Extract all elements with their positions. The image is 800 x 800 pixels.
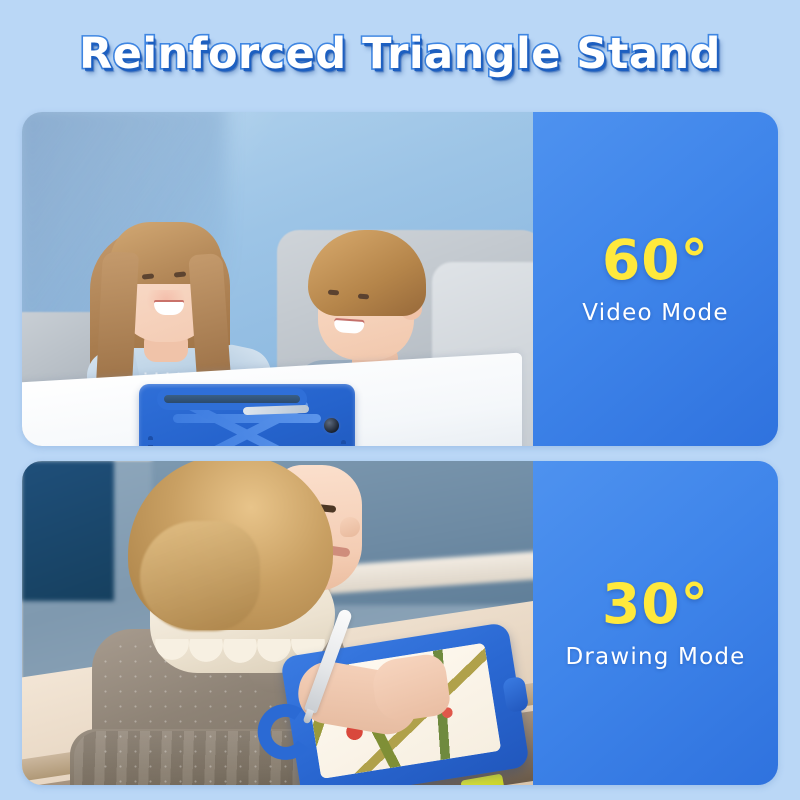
case-vent-dots-right bbox=[341, 440, 346, 446]
page-title: Reinforced Triangle Stand bbox=[79, 29, 721, 79]
wall-dark-left bbox=[22, 461, 114, 601]
panel-drawing-mode: 30° Drawing Mode bbox=[533, 461, 778, 785]
angle-value-video: 60° bbox=[602, 233, 709, 288]
tablet-case-video-mode bbox=[139, 384, 355, 446]
angle-value-drawing: 30° bbox=[602, 577, 709, 632]
page-header: Reinforced Triangle Stand bbox=[0, 22, 800, 86]
case-rib-top bbox=[173, 414, 321, 423]
feature-card-video-mode: 60° Video Mode bbox=[22, 112, 778, 446]
photo-video-mode bbox=[22, 112, 533, 446]
girl2-nose bbox=[340, 517, 360, 537]
mode-label-drawing: Drawing Mode bbox=[565, 644, 745, 670]
boy-eye-left bbox=[328, 290, 339, 296]
panel-video-mode: 60° Video Mode bbox=[533, 112, 778, 446]
girl2-hair-curls bbox=[140, 521, 260, 631]
feature-card-drawing-mode: 30° Drawing Mode bbox=[22, 461, 778, 785]
camera-cutout-icon bbox=[324, 418, 339, 433]
mode-label-video: Video Mode bbox=[582, 300, 728, 326]
photo-drawing-mode bbox=[22, 461, 533, 785]
case-vent-dots-left bbox=[148, 436, 153, 446]
boy-eye-right bbox=[358, 294, 369, 300]
